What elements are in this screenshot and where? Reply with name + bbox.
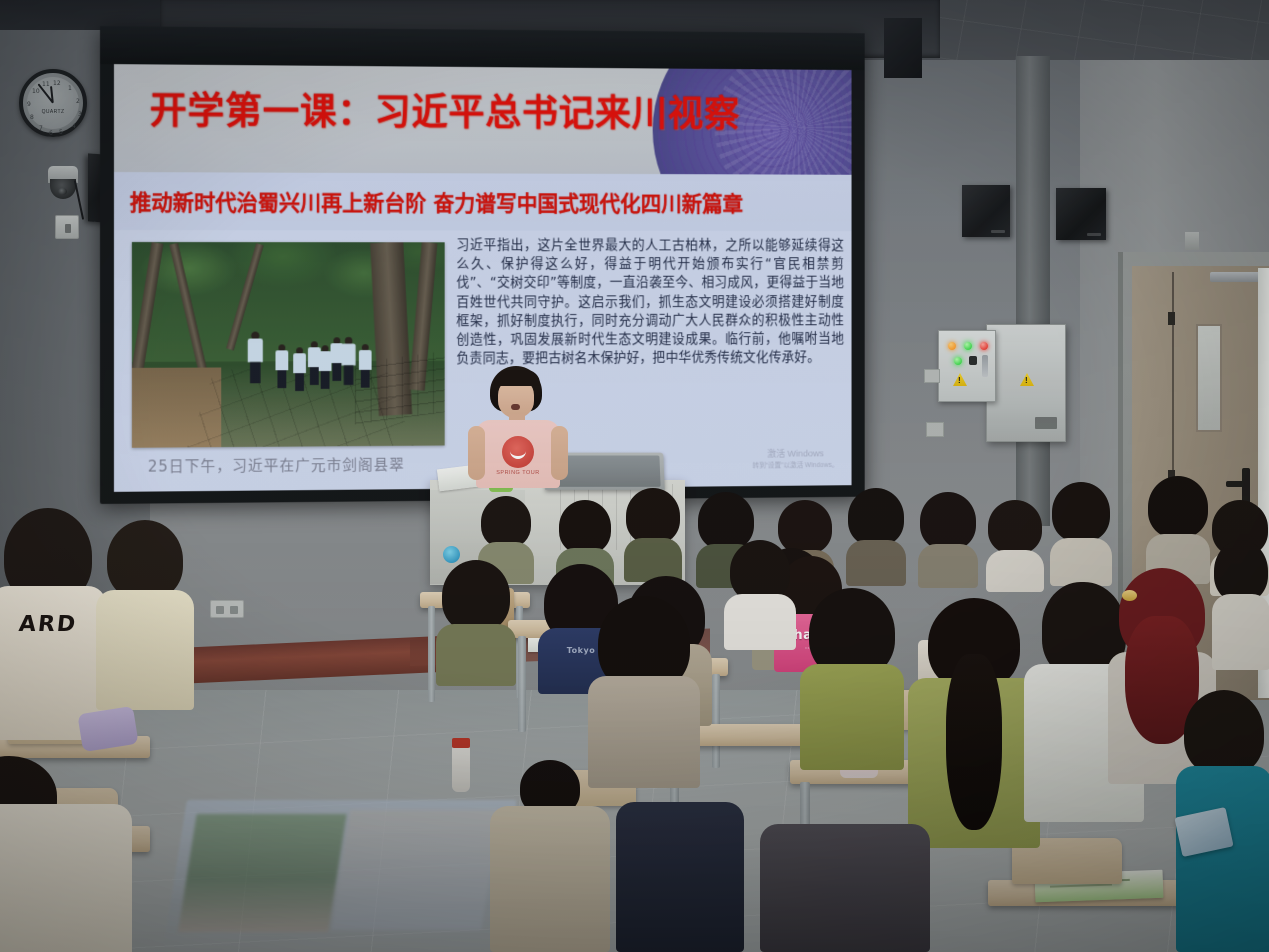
student-torso: [1212, 594, 1269, 670]
student-torso: [800, 664, 904, 770]
led-orange: [948, 342, 956, 350]
student-head: [988, 500, 1042, 554]
student-torso: [760, 824, 930, 952]
student-front-right-dark: [760, 820, 930, 952]
desk-leg-3: [518, 636, 526, 732]
desk-leg-1: [428, 606, 435, 702]
student-head: [559, 500, 611, 554]
student-torso: [616, 802, 744, 952]
clock-numeral-12: 12: [53, 80, 61, 87]
door-hinge-top: [1168, 312, 1175, 325]
student-back-7: [918, 492, 978, 588]
student-front-center: [490, 760, 610, 952]
clock-numeral-5: 5: [59, 129, 63, 136]
classroom-scene: 12 1 2 3 4 5 6 7 8 9 10 11 QUARTZ 开学第一课：…: [0, 0, 1269, 952]
clock-numeral-2: 2: [76, 98, 80, 105]
clock-numeral-1: 1: [68, 85, 72, 92]
photo-person-7: [342, 337, 356, 385]
presenter-arm-right: [551, 426, 568, 480]
watermark-line-2: 转到“设置”以激活 Windows。: [752, 460, 838, 472]
presenter-shirt: SPRING TOUR: [476, 420, 560, 488]
clock-brand-label: QUARTZ: [42, 109, 65, 115]
windows-activation-watermark: 激活 Windows 转到“设置”以激活 Windows。: [752, 448, 838, 472]
door-view-window: [1196, 324, 1222, 432]
student-back-9: [1050, 482, 1112, 586]
clock-numeral-7: 7: [39, 125, 43, 132]
reflection-text: [331, 810, 500, 930]
clock-numeral-10: 10: [32, 88, 40, 95]
book-subtitle-line: [1050, 884, 1111, 888]
wall-outlet-back[interactable]: [210, 600, 244, 618]
led-green-2: [954, 357, 962, 365]
led-green: [964, 342, 972, 350]
student-head: [442, 560, 510, 632]
student-olive-green-ponytail: [908, 598, 1040, 848]
hazard-icon-1: [1020, 373, 1034, 386]
student-head: [107, 520, 183, 600]
clock-numeral-4: 4: [72, 123, 76, 130]
photo-person-8: [359, 344, 372, 388]
student-head: [1184, 690, 1264, 776]
clock-numeral-8: 8: [30, 114, 34, 121]
student-back-6: [846, 488, 906, 586]
student-torso: [1176, 766, 1269, 952]
watermark-line-1: 激活 Windows: [752, 448, 838, 460]
hair-clip: [1122, 590, 1137, 601]
presenter-mouth: [511, 404, 520, 410]
student-head: [481, 496, 531, 548]
bear-logo-icon: [502, 436, 534, 468]
electrical-panel-large[interactable]: [986, 324, 1066, 442]
student-head: [1214, 540, 1268, 602]
student-torso: [724, 594, 796, 650]
slide-subtitle-band: 推动新时代治蜀兴川再上新台阶 奋力谱写中国式现代化四川新篇章: [114, 172, 852, 231]
speaker-right-1: [962, 185, 1010, 237]
electrical-panel-small[interactable]: [938, 330, 996, 402]
student-torso: [846, 540, 906, 586]
door-sensor: [1185, 232, 1199, 250]
student-front-navy-legs: [616, 790, 744, 952]
desk-leg-6: [712, 674, 720, 768]
student-cream-graphic: ARD: [0, 508, 106, 740]
student-torso: [1050, 538, 1112, 586]
wall-plate-right-2: [926, 422, 944, 437]
student-shirt-text: ARD: [0, 612, 107, 637]
student-pale-yellow: [96, 520, 194, 710]
wall-clock: 12 1 2 3 4 5 6 7 8 9 10 11 QUARTZ: [19, 69, 87, 137]
reflection-photo: [178, 814, 347, 932]
clock-numeral-9: 9: [27, 101, 31, 108]
photo-person-2: [275, 344, 288, 388]
door-handle[interactable]: [1242, 468, 1250, 504]
clock-numeral-11: 11: [42, 81, 50, 88]
student-head: [848, 488, 904, 546]
slide-title: 开学第一课：习近平总书记来川视察: [150, 80, 771, 137]
student-torso: [436, 624, 516, 686]
clock-numeral-3: 3: [78, 111, 82, 118]
slide-body-text: 习近平指出，这片全世界最大的人工古柏林，之所以能够延续得这么久、保护得这么好，得…: [456, 236, 844, 369]
student-torso: [0, 804, 132, 952]
student-olive-front: [800, 588, 904, 770]
presenter-bangs: [494, 370, 540, 386]
student-head: [626, 488, 680, 544]
panel-latch[interactable]: [1035, 417, 1057, 429]
panel-knob[interactable]: [969, 356, 977, 365]
presenter: SPRING TOUR: [476, 366, 560, 488]
student-head: [730, 540, 790, 602]
speaker-right-2: [1056, 188, 1106, 240]
led-red: [980, 342, 988, 350]
slide-title-band: 开学第一课：习近平总书记来川视察: [114, 64, 852, 175]
clock-numeral-6: 6: [49, 130, 53, 137]
wall-plate-right-1: [924, 369, 940, 383]
water-bottle-floor: [452, 744, 470, 792]
student-back-8: [986, 500, 1044, 592]
photo-person-lead: [248, 332, 263, 384]
presenter-arm-left: [468, 426, 485, 480]
slide-photo-caption: 25日下午，习近平在广元市剑阁县翠: [148, 454, 405, 477]
presenter-shirt-text: SPRING TOUR: [496, 470, 540, 476]
slide-subtitle: 推动新时代治蜀兴川再上新台阶 奋力谱写中国式现代化四川新篇章: [130, 186, 846, 218]
wall-outlet-left[interactable]: [55, 215, 79, 239]
student-right-edge: [1212, 540, 1269, 670]
screen-reflection-on-floor: [163, 800, 517, 950]
screen-top-bezel: [100, 26, 865, 70]
student-torso: [490, 806, 610, 952]
student-front-left-cream: [0, 756, 132, 952]
student-back-3: [624, 488, 682, 582]
slide-photo-cypress-forest: [132, 242, 445, 448]
wall-column: [1016, 56, 1050, 526]
student-torso: [918, 544, 978, 588]
bottle-cap-red: [452, 738, 470, 748]
panel-switch[interactable]: [982, 355, 988, 377]
hazard-icon-2: [953, 373, 967, 386]
student-head: [920, 492, 976, 550]
student-darkhair-left: [436, 560, 516, 686]
photo-person-3: [293, 347, 306, 391]
student-head: [1052, 482, 1110, 542]
student-head: [1148, 476, 1208, 538]
student-torso: [96, 590, 194, 710]
student-ponytail: [946, 654, 1002, 830]
student-white-kitty: [724, 540, 796, 650]
speaker-ceiling: [884, 18, 922, 78]
camera-lens: [58, 188, 67, 195]
